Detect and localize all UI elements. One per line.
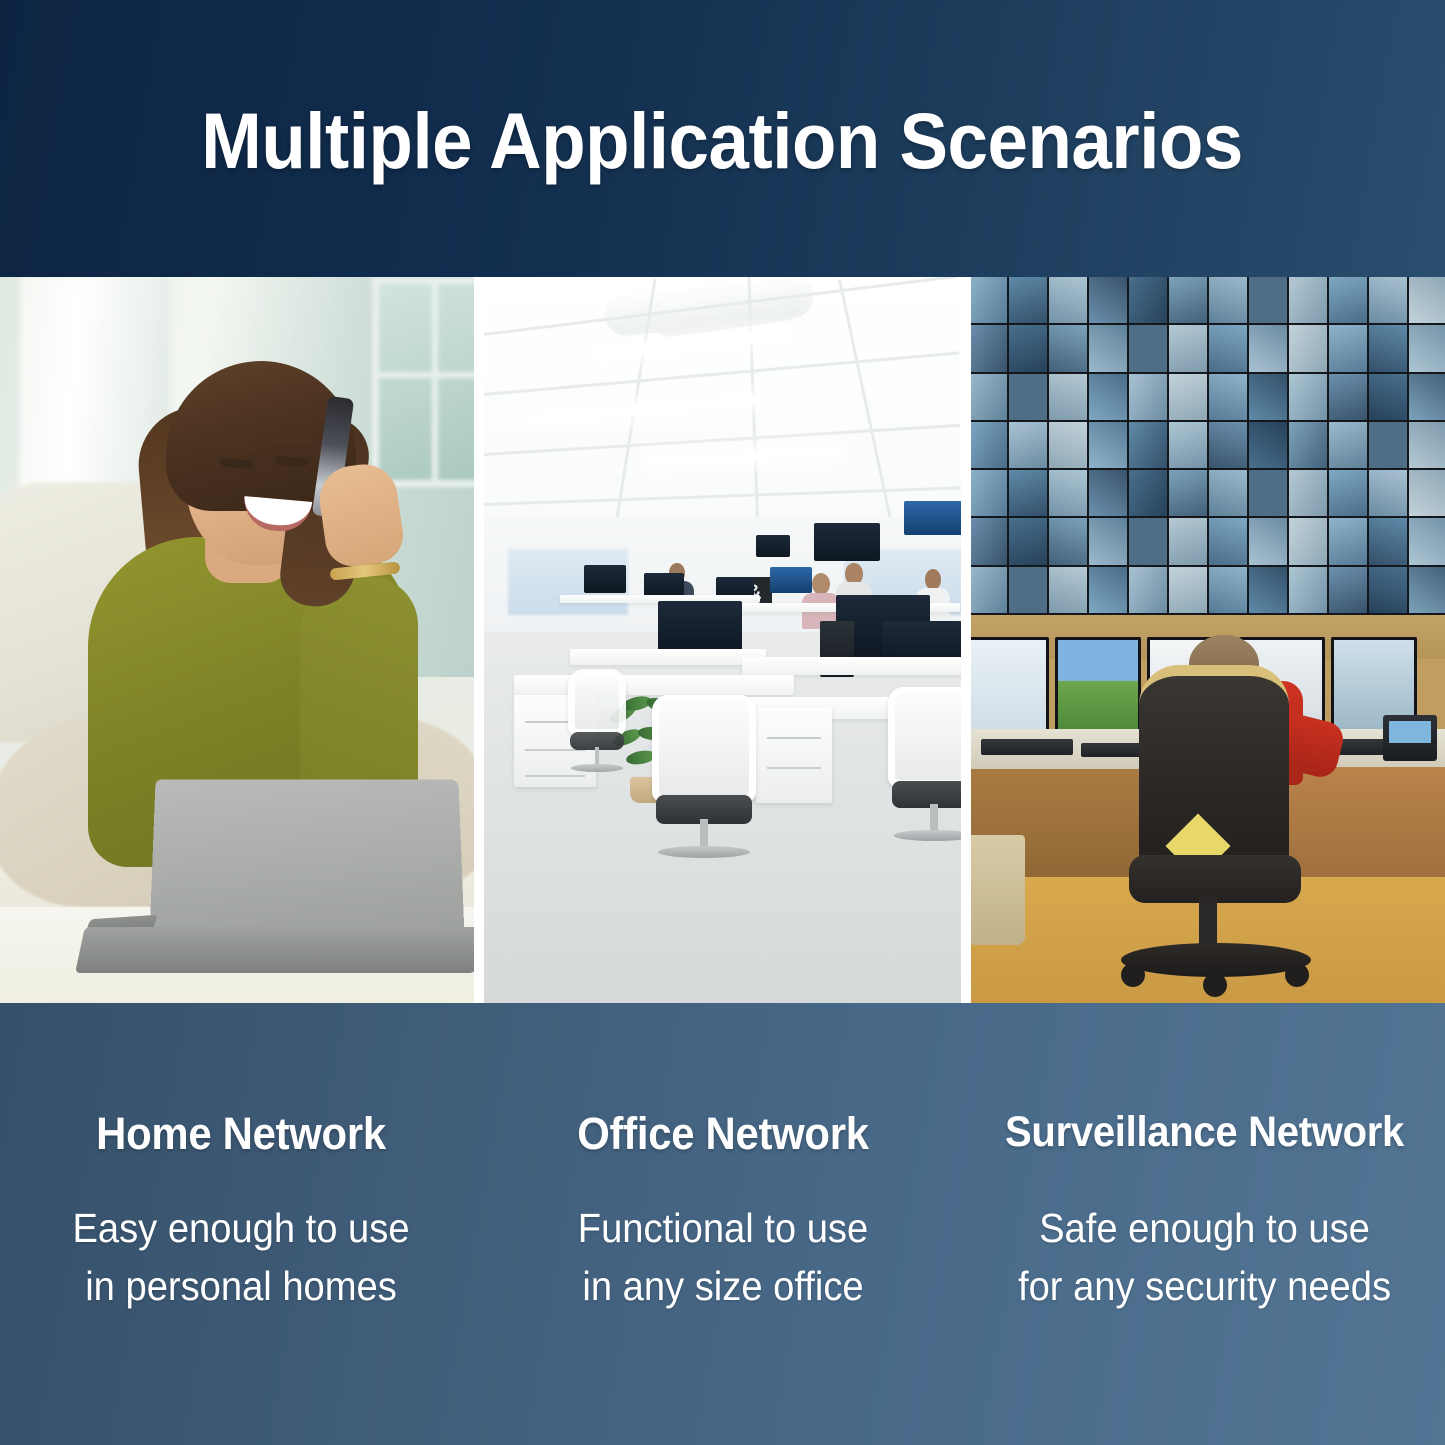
poster-header: Multiple Application Scenarios <box>0 0 1445 277</box>
caption-heading-surveillance: Surveillance Network <box>981 1108 1428 1157</box>
cctv-tile <box>1289 325 1327 371</box>
office-desk <box>570 649 766 665</box>
cctv-tile <box>1049 325 1087 371</box>
cctv-tile <box>1009 567 1047 613</box>
desk-monitor <box>584 565 626 593</box>
laptop-base <box>75 927 474 973</box>
cctv-tile <box>1009 277 1047 323</box>
office-desk <box>742 657 961 675</box>
cctv-tile <box>1129 422 1167 468</box>
cctv-tile <box>1209 422 1247 468</box>
cctv-tile <box>1249 374 1287 420</box>
cctv-tile <box>1409 470 1445 516</box>
chair-castor <box>1285 963 1309 987</box>
surveillance-network-photo <box>971 277 1445 1003</box>
cctv-tile <box>1409 374 1445 420</box>
cctv-tile <box>1049 374 1087 420</box>
cctv-tile <box>1169 422 1207 468</box>
photo-gap-1 <box>474 277 484 1003</box>
cctv-tile <box>1129 277 1167 323</box>
caption-heading-office: Office Network <box>499 1108 947 1160</box>
monitor-screen <box>1058 640 1138 730</box>
cctv-tile <box>1329 325 1367 371</box>
operator-chair-base <box>1121 943 1311 977</box>
chair-post <box>930 804 937 833</box>
cctv-tile <box>971 374 1007 420</box>
wall-display-blue <box>904 501 961 535</box>
caption-text-surveillance: Safe enough to use for any security need… <box>981 1199 1428 1315</box>
chair-backrest <box>652 695 756 802</box>
cctv-tile <box>1049 422 1087 468</box>
office-network-photo: & <box>484 277 961 1003</box>
cctv-tile <box>1089 567 1127 613</box>
cctv-tile <box>1369 422 1407 468</box>
chair-base <box>571 764 622 772</box>
cctv-tile <box>1249 518 1287 564</box>
caption-line-2: in any size office <box>582 1263 863 1309</box>
worker-head <box>845 563 862 585</box>
cctv-tile <box>1369 374 1407 420</box>
worker-head <box>925 569 941 590</box>
desk-telephone <box>1383 715 1437 761</box>
cctv-tile <box>1169 470 1207 516</box>
cctv-tile <box>971 518 1007 564</box>
cctv-video-wall <box>971 277 1445 615</box>
cctv-tile <box>1369 325 1407 371</box>
chair-post <box>700 819 708 850</box>
cctv-tile <box>1049 518 1087 564</box>
cctv-tile <box>1209 518 1247 564</box>
cctv-tile <box>1209 325 1247 371</box>
cctv-tile <box>1329 518 1367 564</box>
photo-gap-2 <box>961 277 971 1003</box>
cctv-tile <box>1369 277 1407 323</box>
captions-panel: Home Network Easy enough to use in perso… <box>0 1003 1445 1445</box>
chair-castor <box>1121 963 1145 987</box>
caption-heading-home: Home Network <box>17 1108 465 1160</box>
cctv-tile <box>1249 422 1287 468</box>
desk-drawer-unit <box>756 707 832 803</box>
cctv-tile <box>1169 277 1207 323</box>
cctv-tile <box>1129 518 1167 564</box>
keyboard <box>981 739 1073 755</box>
caption-text-home: Easy enough to use in personal homes <box>17 1199 465 1315</box>
cctv-tile <box>1129 470 1167 516</box>
cctv-tile <box>1049 277 1087 323</box>
cctv-tile <box>1169 518 1207 564</box>
cctv-tile <box>971 325 1007 371</box>
cctv-tile <box>1409 422 1445 468</box>
cctv-tile <box>1289 422 1327 468</box>
cctv-tile <box>1249 470 1287 516</box>
cctv-tile <box>1089 325 1127 371</box>
cctv-tile <box>1329 470 1367 516</box>
chair-seat <box>892 781 961 809</box>
caption-line-1: Easy enough to use <box>72 1205 409 1251</box>
cctv-tile <box>1369 567 1407 613</box>
operator-chair-seat <box>1129 855 1301 903</box>
cctv-tile <box>1209 277 1247 323</box>
cctv-tile <box>1209 567 1247 613</box>
caption-column-office: Office Network Functional to use in any … <box>482 1003 964 1445</box>
cctv-tile <box>1089 470 1127 516</box>
cctv-tile <box>1329 374 1367 420</box>
desk-monitor <box>770 567 812 593</box>
cctv-tile <box>1089 277 1127 323</box>
cctv-tile <box>1409 518 1445 564</box>
cctv-tile <box>1129 567 1167 613</box>
cctv-tile <box>1009 470 1047 516</box>
wall-display <box>756 535 790 557</box>
caption-line-1: Safe enough to use <box>1039 1205 1370 1251</box>
cctv-tile <box>1369 518 1407 564</box>
cctv-tile <box>1009 374 1047 420</box>
console-monitor <box>971 637 1049 733</box>
cctv-tile <box>1009 422 1047 468</box>
cctv-tile <box>971 470 1007 516</box>
caption-text-office: Functional to use in any size office <box>499 1199 947 1315</box>
cctv-tile <box>1049 567 1087 613</box>
drawer-handle <box>767 767 822 769</box>
drawer-handle <box>767 737 822 739</box>
cctv-tile <box>1169 567 1207 613</box>
cctv-tile <box>1249 325 1287 371</box>
cctv-tile <box>1329 277 1367 323</box>
cctv-tile <box>1289 277 1327 323</box>
cctv-tile <box>1009 325 1047 371</box>
chair-base <box>894 830 961 841</box>
cctv-tile <box>1249 567 1287 613</box>
office-chair <box>652 695 756 867</box>
phone-screen <box>1389 721 1431 743</box>
cctv-tile <box>1129 325 1167 371</box>
cctv-tile <box>1289 518 1327 564</box>
cctv-tile <box>1249 277 1287 323</box>
cctv-tile <box>1409 567 1445 613</box>
cctv-tile <box>1169 374 1207 420</box>
cctv-tile <box>1369 470 1407 516</box>
worker-head <box>812 573 830 595</box>
cctv-tile <box>1409 277 1445 323</box>
cctv-tile <box>1209 374 1247 420</box>
chair-backrest <box>888 687 961 787</box>
waste-bin <box>971 835 1025 945</box>
cctv-tile <box>1289 567 1327 613</box>
office-desk <box>514 675 794 695</box>
cctv-tile <box>1089 518 1127 564</box>
cctv-tile <box>1209 470 1247 516</box>
cctv-tile <box>971 567 1007 613</box>
cctv-tile <box>971 277 1007 323</box>
cctv-tile <box>1129 374 1167 420</box>
cctv-tile <box>1329 422 1367 468</box>
wall-display <box>814 523 880 561</box>
caption-line-2: for any security needs <box>1018 1263 1391 1309</box>
captions-columns: Home Network Easy enough to use in perso… <box>0 1003 1445 1445</box>
office-chair <box>568 669 626 777</box>
home-network-photo <box>0 277 474 1003</box>
caption-column-surveillance: Surveillance Network Safe enough to use … <box>964 1003 1445 1445</box>
caption-line-2: in personal homes <box>85 1263 397 1309</box>
cctv-tile <box>971 422 1007 468</box>
cctv-tile <box>1169 325 1207 371</box>
monitor-screen <box>971 640 1046 730</box>
cctv-tile <box>1409 325 1445 371</box>
console-monitor <box>1055 637 1141 733</box>
chair-castor <box>1203 973 1227 997</box>
cctv-tile <box>1289 470 1327 516</box>
cctv-tile <box>1089 374 1127 420</box>
caption-line-1: Functional to use <box>578 1205 868 1251</box>
page-title: Multiple Application Scenarios <box>202 95 1244 187</box>
cctv-tile <box>1089 422 1127 468</box>
caption-column-home: Home Network Easy enough to use in perso… <box>0 1003 482 1445</box>
background-window <box>372 277 474 487</box>
office-chair <box>888 687 961 849</box>
cctv-tile <box>1329 567 1367 613</box>
chair-backrest <box>568 669 626 736</box>
application-scenarios-poster: Multiple Application Scenarios <box>0 0 1445 1445</box>
cctv-tile <box>1289 374 1327 420</box>
cctv-tile <box>1049 470 1087 516</box>
cctv-tile <box>1009 518 1047 564</box>
desk-monitor-large <box>658 601 742 653</box>
photo-strip: & <box>0 277 1445 1003</box>
chair-base <box>658 846 750 858</box>
